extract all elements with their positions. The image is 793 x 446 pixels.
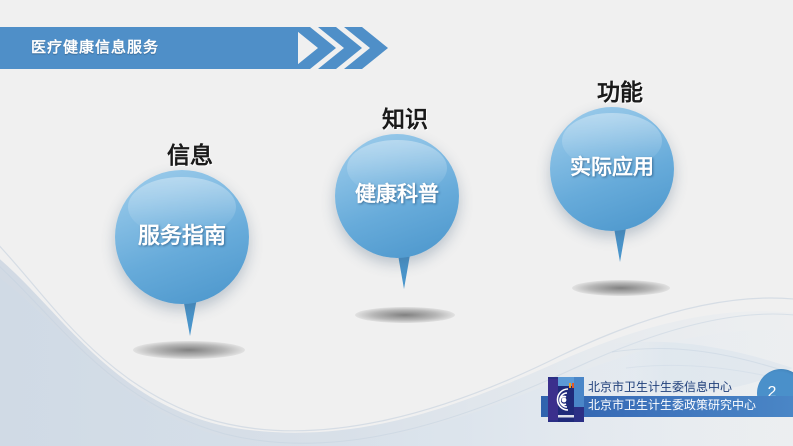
slide-canvas: 医疗健康信息服务 信息 服务指南 知识 健康科普 功能 <box>0 0 793 446</box>
balloon-body-1: 服务指南 <box>115 170 265 330</box>
beijing-health-commission-logo-icon <box>548 377 584 422</box>
balloon-item-3[interactable]: 功能 实际应用 <box>550 73 690 273</box>
balloon-shadow-3 <box>572 280 670 296</box>
balloon-caption-3: 功能 <box>550 73 690 107</box>
banner-title: 医疗健康信息服务 <box>31 27 159 69</box>
balloon-caption-1: 信息 <box>115 136 265 170</box>
balloon-shadow-1 <box>133 341 245 359</box>
footer-org-line-2: 北京市卫生计生委政策研究中心 <box>588 396 788 415</box>
balloon-shadow-2 <box>355 307 455 323</box>
chevron-group <box>292 27 388 69</box>
balloon-body-2: 健康科普 <box>335 134 475 294</box>
footer-org-line-1: 北京市卫生计生委信息中心 <box>588 379 788 396</box>
balloon-label-3: 实际应用 <box>550 151 674 181</box>
balloon-circle-2[interactable]: 健康科普 <box>335 134 459 258</box>
balloon-item-2[interactable]: 知识 健康科普 <box>335 100 475 300</box>
title-banner: 医疗健康信息服务 <box>0 27 400 69</box>
balloon-label-1: 服务指南 <box>115 218 249 250</box>
balloon-circle-1[interactable]: 服务指南 <box>115 170 249 304</box>
balloon-item-1[interactable]: 信息 服务指南 <box>115 136 265 336</box>
balloon-body-3: 实际应用 <box>550 107 690 267</box>
balloon-label-2: 健康科普 <box>335 178 459 208</box>
balloon-circle-3[interactable]: 实际应用 <box>550 107 674 231</box>
balloon-caption-2: 知识 <box>335 100 475 134</box>
footer-org-names: 北京市卫生计生委信息中心 北京市卫生计生委政策研究中心 <box>588 379 788 415</box>
